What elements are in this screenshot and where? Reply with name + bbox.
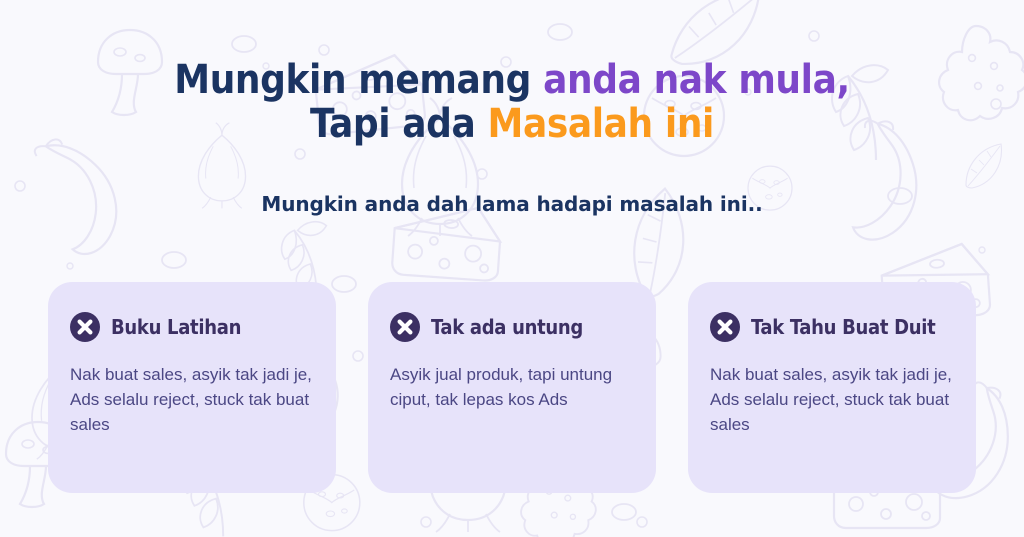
problem-card-body: Asyik jual produk, tapi untung ciput, ta… [390, 362, 634, 412]
headline-line-2-accent: Masalah ini [488, 101, 714, 147]
x-circle-icon [710, 312, 740, 342]
page-title: Mungkin memang anda nak mula, Tapi ada M… [0, 58, 1024, 146]
headline-line-2: Tapi ada Masalah ini [0, 102, 1024, 146]
problem-card: Tak Tahu Buat Duit Nak buat sales, asyik… [688, 282, 976, 493]
x-circle-icon [70, 312, 100, 342]
problem-card-list: Buku Latihan Nak buat sales, asyik tak j… [48, 282, 976, 493]
problem-card-title: Buku Latihan [111, 316, 241, 338]
problem-card-body: Nak buat sales, asyik tak jadi je, Ads s… [710, 362, 954, 437]
problem-card-body: Nak buat sales, asyik tak jadi je, Ads s… [70, 362, 314, 437]
problem-card-title: Tak ada untung [431, 316, 583, 338]
problem-card-header: Buku Latihan [70, 312, 314, 342]
problem-card-header: Tak Tahu Buat Duit [710, 312, 954, 342]
page-subtitle: Mungkin anda dah lama hadapi masalah ini… [0, 192, 1024, 216]
headline-line-1-accent: anda nak mula, [543, 57, 850, 103]
headline-line-1: Mungkin memang anda nak mula, [0, 58, 1024, 102]
problem-card-header: Tak ada untung [390, 312, 634, 342]
problem-card: Buku Latihan Nak buat sales, asyik tak j… [48, 282, 336, 493]
problem-card-title: Tak Tahu Buat Duit [751, 316, 935, 338]
headline-line-1-primary: Mungkin memang [174, 57, 543, 103]
headline-line-2-primary: Tapi ada [310, 101, 488, 147]
slide-content: Mungkin memang anda nak mula, Tapi ada M… [0, 0, 1024, 537]
problem-card: Tak ada untung Asyik jual produk, tapi u… [368, 282, 656, 493]
x-circle-icon [390, 312, 420, 342]
